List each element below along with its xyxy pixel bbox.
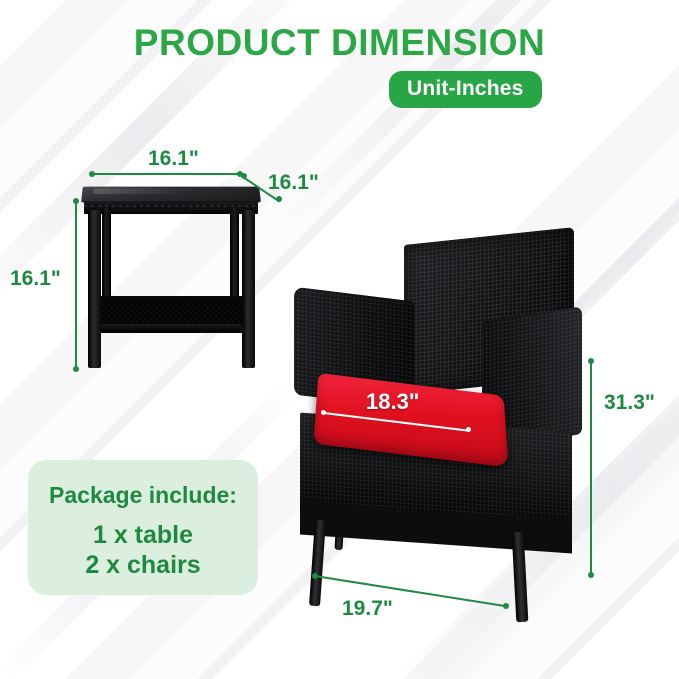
chair-illustration [286, 236, 586, 596]
package-item-chairs: 2 x chairs [28, 551, 258, 581]
package-item-table: 1 x table [28, 521, 258, 551]
table-leg-front-left [88, 210, 101, 368]
table-glass-top [81, 187, 261, 202]
chair-height-line [590, 361, 592, 576]
table-depth-label: 16.1" [268, 172, 319, 193]
chair-seat-width-endpoint-right [466, 427, 471, 432]
table-depth-endpoint-bottom [276, 196, 282, 202]
table-height-line [75, 201, 77, 371]
table-width-endpoint-left [89, 171, 95, 177]
chair-width-label: 19.7" [342, 598, 393, 619]
chair-width-endpoint-left [312, 573, 318, 579]
table-height-endpoint-top [73, 198, 79, 204]
table-leg-front-right [242, 210, 255, 368]
table-height-label: 16.1" [10, 268, 61, 289]
unit-badge: Unit-Inches [389, 71, 542, 108]
package-include-box: Package include: 1 x table 2 x chairs [28, 460, 258, 595]
chair-height-endpoint-bottom [588, 572, 594, 578]
chair-width-endpoint-right [503, 603, 509, 609]
table-height-endpoint-bottom [73, 366, 79, 372]
table-depth-endpoint-top [241, 173, 247, 179]
table-width-line [92, 173, 240, 175]
package-title: Package include: [28, 482, 258, 509]
chair-height-endpoint-top [588, 358, 594, 364]
table-shelf-front-rail [90, 324, 252, 332]
chair-height-label: 31.3" [604, 392, 655, 413]
table-illustration [78, 178, 268, 368]
chair-seat-width-endpoint-left [321, 410, 326, 415]
infographic-canvas: PRODUCT DIMENSION Unit-Inches 16.1" 16.1… [0, 0, 679, 679]
chair-seat-width-label: 18.3" [366, 389, 419, 415]
table-width-label: 16.1" [148, 148, 199, 169]
page-title: PRODUCT DIMENSION [0, 22, 679, 64]
